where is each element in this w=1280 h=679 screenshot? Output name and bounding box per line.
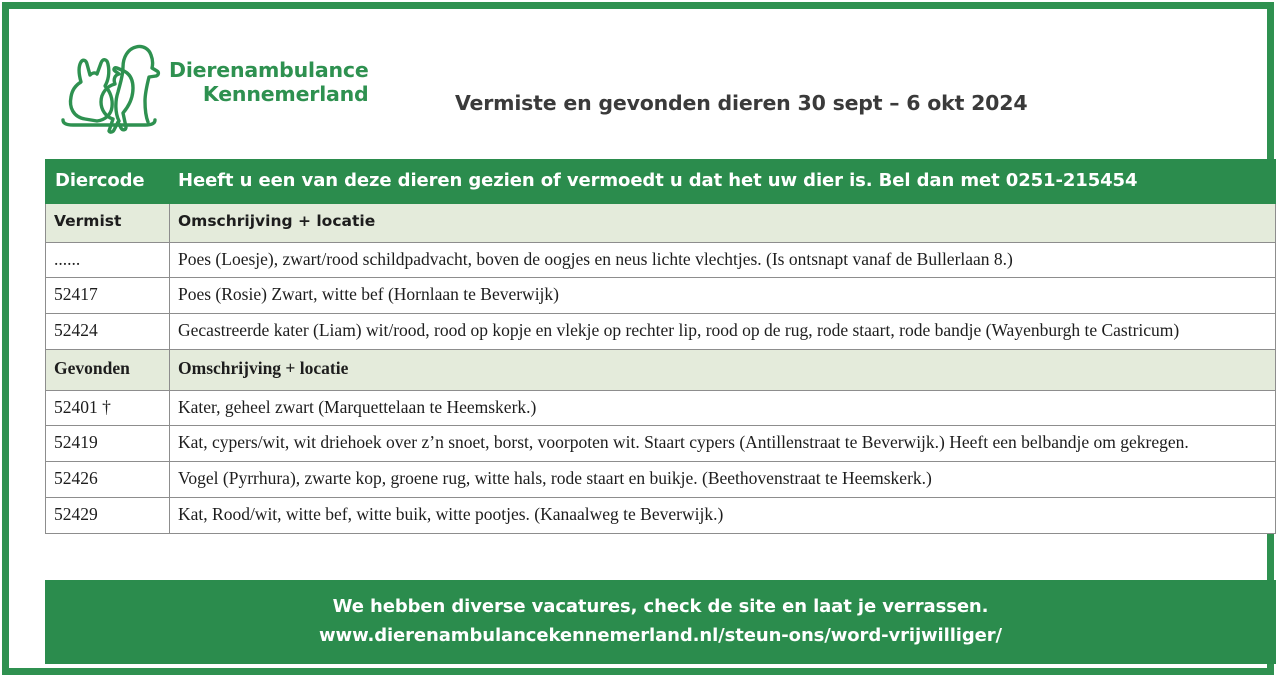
row-description: Kater, geheel zwart (Marquettelaan te He… <box>170 390 1276 426</box>
column-header-diercode: Diercode <box>46 160 170 204</box>
contact-notice: Heeft u een van deze dieren gezien of ve… <box>170 160 1276 204</box>
table-row: 52424 Gecastreerde kater (Liam) wit/rood… <box>46 314 1276 350</box>
table-row: 52417 Poes (Rosie) Zwart, witte bef (Hor… <box>46 278 1276 314</box>
listing-table: Diercode Heeft u een van deze dieren gez… <box>45 159 1276 534</box>
row-diercode: 52401 † <box>46 390 170 426</box>
listing-table-wrapper: Diercode Heeft u een van deze dieren gez… <box>45 159 1276 534</box>
row-diercode: ...... <box>46 242 170 278</box>
footer-banner: We hebben diverse vacatures, check de si… <box>45 580 1276 664</box>
section-header-gevonden: Gevonden Omschrijving + locatie <box>46 349 1276 390</box>
brand-line-1: Dierenambulance <box>169 59 369 83</box>
masthead: Dierenambulance Kennemerland Vermiste en… <box>9 9 1267 149</box>
row-description: Poes (Rosie) Zwart, witte bef (Hornlaan … <box>170 278 1276 314</box>
row-description: Vogel (Pyrrhura), zwarte kop, groene rug… <box>170 462 1276 498</box>
row-description: Poes (Loesje), zwart/rood schildpadvacht… <box>170 242 1276 278</box>
page-frame: Dierenambulance Kennemerland Vermiste en… <box>2 2 1274 675</box>
section-header-vermist: Vermist Omschrijving + locatie <box>46 204 1276 242</box>
table-row: 52401 † Kater, geheel zwart (Marquettela… <box>46 390 1276 426</box>
section-label-vermist: Vermist <box>46 204 170 242</box>
row-description: Kat, Rood/wit, witte bef, witte buik, wi… <box>170 497 1276 533</box>
section-desc-header-vermist: Omschrijving + locatie <box>170 204 1276 242</box>
row-diercode: 52419 <box>46 426 170 462</box>
table-row: 52419 Kat, cypers/wit, wit driehoek over… <box>46 426 1276 462</box>
footer-vacancy-text: We hebben diverse vacatures, check de si… <box>46 592 1275 621</box>
table-row: 52426 Vogel (Pyrrhura), zwarte kop, groe… <box>46 462 1276 498</box>
animals-silhouette-logo-icon <box>57 31 161 135</box>
row-description: Kat, cypers/wit, wit driehoek over z’n s… <box>170 426 1276 462</box>
footer-volunteer-url[interactable]: www.dierenambulancekennemerland.nl/steun… <box>46 621 1275 650</box>
page-title: Vermiste en gevonden dieren 30 sept – 6 … <box>455 91 1027 115</box>
row-description: Gecastreerde kater (Liam) wit/rood, rood… <box>170 314 1276 350</box>
page-content: Dierenambulance Kennemerland Vermiste en… <box>9 9 1267 668</box>
table-row: 52429 Kat, Rood/wit, witte bef, witte bu… <box>46 497 1276 533</box>
row-diercode: 52417 <box>46 278 170 314</box>
brand-wordmark: Dierenambulance Kennemerland <box>169 59 369 107</box>
brand-line-2: Kennemerland <box>169 83 369 107</box>
brand-logo: Dierenambulance Kennemerland <box>57 31 369 135</box>
table-row: ...... Poes (Loesje), zwart/rood schildp… <box>46 242 1276 278</box>
section-desc-header-gevonden: Omschrijving + locatie <box>170 349 1276 390</box>
row-diercode: 52424 <box>46 314 170 350</box>
table-banner-row: Diercode Heeft u een van deze dieren gez… <box>46 160 1276 204</box>
section-label-gevonden: Gevonden <box>46 349 170 390</box>
row-diercode: 52426 <box>46 462 170 498</box>
row-diercode: 52429 <box>46 497 170 533</box>
